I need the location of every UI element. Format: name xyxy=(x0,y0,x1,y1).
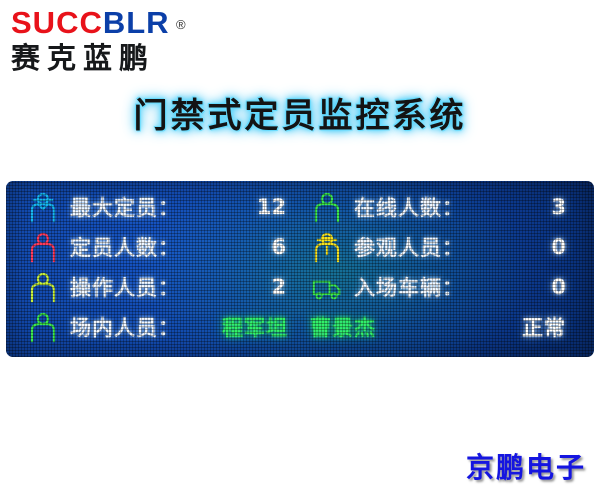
logo-wordmark-blr: BLR xyxy=(103,5,170,40)
onsite-name: 曹景杰 xyxy=(310,312,376,342)
led-row: 操作人员： 2 入场车辆： 0 xyxy=(18,267,582,307)
logo-wordmark: SUCCBLR ® xyxy=(8,6,238,40)
footer-brand: 京鹏电子 xyxy=(466,446,586,486)
led-value: 0 xyxy=(464,275,582,299)
person-icon xyxy=(28,311,58,343)
person-cap-icon xyxy=(28,191,58,223)
logo-chinese-name: 赛克蓝鹏 xyxy=(8,41,238,75)
led-field-quota-count: 定员人数： 6 xyxy=(18,227,302,267)
led-label: 入场车辆： xyxy=(354,272,464,302)
led-row: 最大定员： 12 在线人数： 3 xyxy=(18,187,582,227)
led-display-panel: 最大定员： 12 在线人数： 3 xyxy=(6,181,594,357)
onsite-name: 程军坦 xyxy=(222,312,288,342)
page-title: 门禁式定员监控系统 xyxy=(0,88,600,137)
truck-icon xyxy=(312,271,342,303)
logo-wordmark-succ: SUCC xyxy=(11,5,103,40)
led-field-max-capacity: 最大定员： 12 xyxy=(18,187,302,227)
person-helmet-icon xyxy=(312,231,342,263)
person-icon xyxy=(312,191,342,223)
led-field-vehicle-count: 入场车辆： 0 xyxy=(302,267,582,307)
led-value: 0 xyxy=(464,235,582,259)
led-row: 场内人员： 程军坦 曹景杰 正常 xyxy=(18,307,582,347)
led-label: 定员人数： xyxy=(70,232,180,262)
led-value: 12 xyxy=(180,195,302,219)
led-label: 最大定员： xyxy=(70,192,180,222)
status-badge: 正常 xyxy=(522,312,582,342)
led-label: 场内人员： xyxy=(70,312,180,342)
led-field-online-count: 在线人数： 3 xyxy=(302,187,582,227)
led-label: 在线人数： xyxy=(354,192,464,222)
onsite-name-list: 程军坦 曹景杰 正常 xyxy=(180,312,582,342)
company-logo: SUCCBLR ® 赛克蓝鹏 xyxy=(8,6,238,76)
led-row: 定员人数： 6 参观人员： 0 xyxy=(18,227,582,267)
person-icon xyxy=(28,271,58,303)
led-field-onsite-personnel: 场内人员： 程军坦 曹景杰 正常 xyxy=(18,307,582,347)
person-icon xyxy=(28,231,58,263)
led-display-content: 最大定员： 12 在线人数： 3 xyxy=(18,187,582,351)
led-label: 参观人员： xyxy=(354,232,464,262)
led-field-operator-count: 操作人员： 2 xyxy=(18,267,302,307)
led-field-visitor-count: 参观人员： 0 xyxy=(302,227,582,267)
led-value: 2 xyxy=(180,275,302,299)
led-value: 3 xyxy=(464,195,582,219)
led-value: 6 xyxy=(180,235,302,259)
registered-trademark-icon: ® xyxy=(176,8,187,42)
led-label: 操作人员： xyxy=(70,272,180,302)
